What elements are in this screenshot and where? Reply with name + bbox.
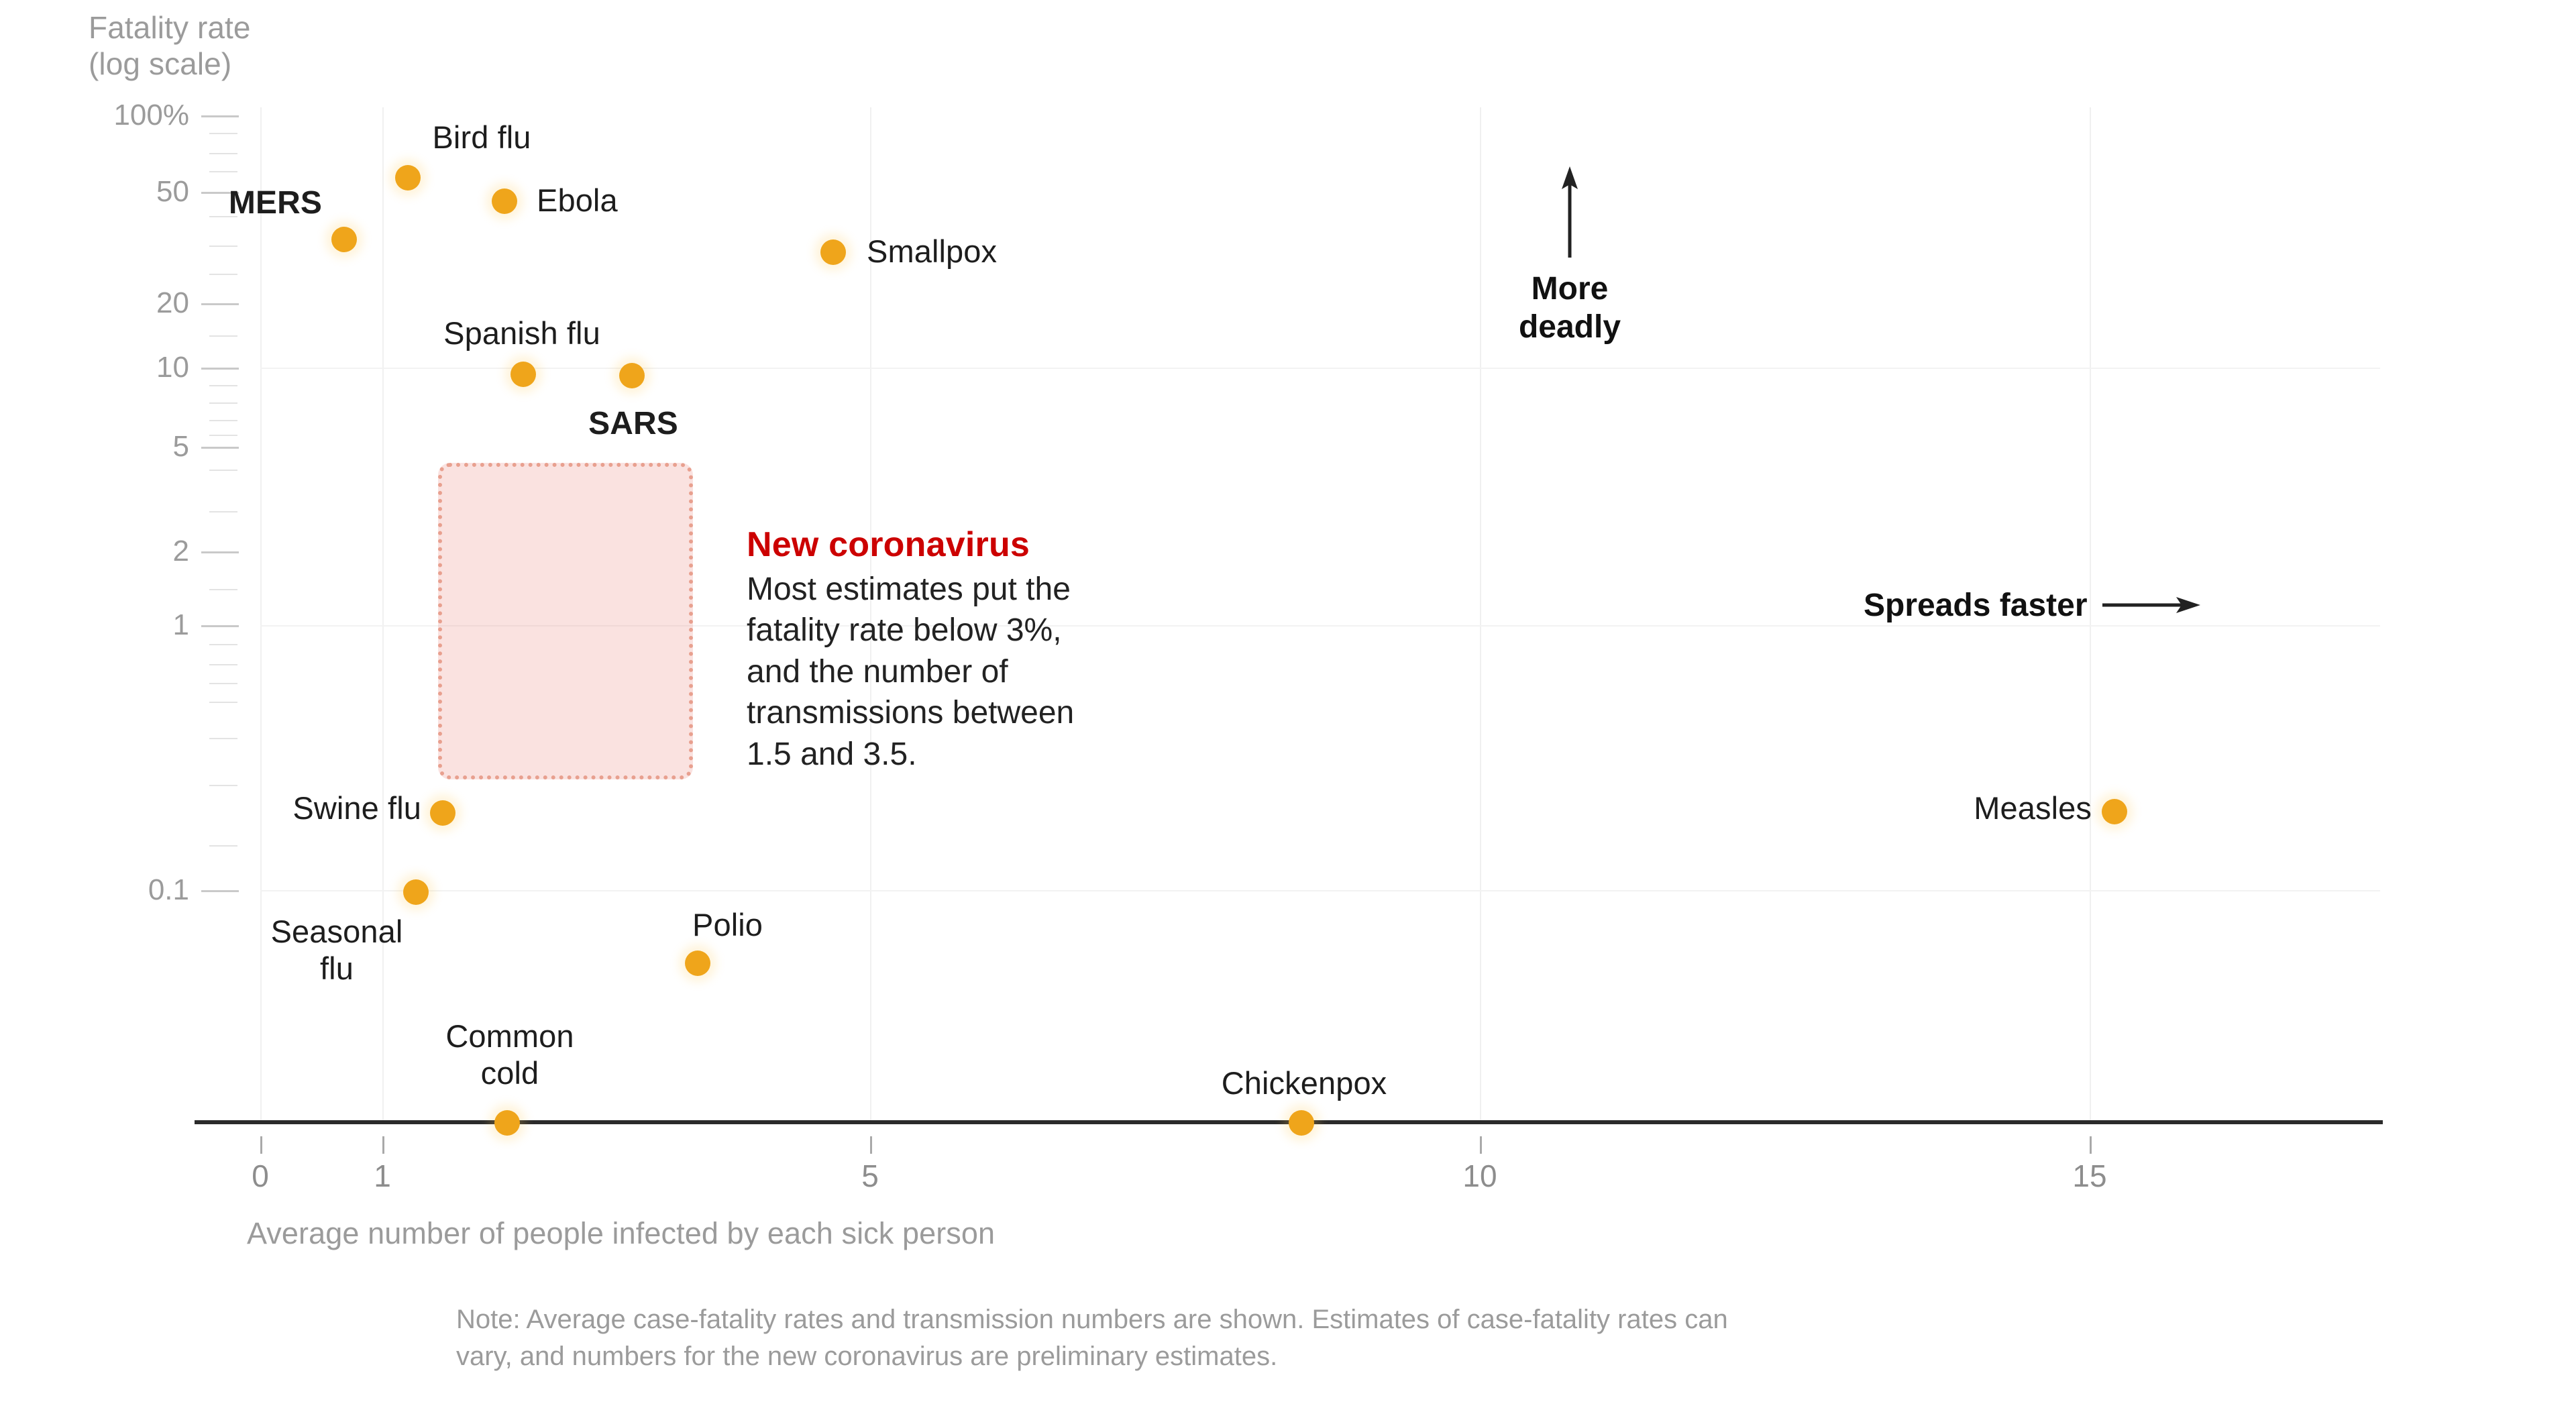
y-tick-10	[201, 368, 239, 370]
y-minor-tick	[209, 171, 237, 172]
coronavirus-highlight-region	[438, 463, 693, 779]
x-tick-10	[1480, 1136, 1482, 1154]
x-tick-0	[260, 1136, 262, 1154]
y-minor-tick	[209, 738, 237, 739]
y-minor-tick	[209, 644, 237, 645]
y-tick-label-0.1: 0.1	[148, 873, 189, 907]
gridline-y-10	[260, 368, 2380, 369]
y-minor-tick	[209, 511, 237, 512]
more-deadly-annotation: More deadly	[1496, 165, 1644, 346]
scatter-chart: Fatality rate (log scale) Average number…	[0, 0, 2576, 1412]
data-point-bird-flu[interactable]	[395, 165, 421, 191]
data-point-mers[interactable]	[331, 227, 357, 252]
y-minor-tick	[209, 664, 237, 665]
spreads-faster-label: Spreads faster	[1864, 587, 2088, 624]
y-minor-tick	[209, 385, 237, 386]
x-tick-label-1: 1	[374, 1158, 391, 1194]
data-point-label-measles: Measles	[1974, 790, 2092, 827]
x-tick-1	[382, 1136, 384, 1154]
y-tick-label-100: 100%	[113, 99, 189, 132]
data-point-spanish-flu[interactable]	[511, 362, 536, 387]
arrow-right-icon	[2101, 585, 2202, 625]
gridline-x-0	[260, 107, 262, 1124]
y-tick-label-2: 2	[173, 535, 189, 568]
y-minor-tick	[209, 683, 237, 684]
y-minor-tick	[209, 153, 237, 154]
data-point-seasonal-flu[interactable]	[403, 879, 429, 905]
gridline-x-10	[1480, 107, 1481, 1124]
data-point-label-polio: Polio	[692, 907, 763, 944]
data-point-sars[interactable]	[619, 363, 645, 388]
data-point-label-common-cold: Common cold	[445, 1018, 574, 1091]
y-minor-tick	[209, 420, 237, 421]
y-tick-20	[201, 303, 239, 305]
y-minor-tick	[209, 274, 237, 275]
y-tick-1	[201, 625, 239, 627]
x-axis-title: Average number of people infected by eac…	[247, 1215, 995, 1251]
data-point-common-cold[interactable]	[494, 1110, 520, 1136]
data-point-ebola[interactable]	[492, 188, 517, 214]
y-minor-tick	[209, 785, 237, 786]
y-tick-5	[201, 447, 239, 449]
x-tick-label-0: 0	[252, 1158, 269, 1194]
data-point-label-spanish-flu: Spanish flu	[443, 315, 600, 352]
y-tick-label-20: 20	[156, 286, 189, 320]
y-minor-tick	[209, 402, 237, 404]
y-minor-tick	[209, 702, 237, 703]
y-tick-100	[201, 115, 239, 117]
y-tick-label-5: 5	[173, 430, 189, 464]
y-tick-2	[201, 551, 239, 553]
data-point-label-smallpox: Smallpox	[867, 233, 997, 270]
y-minor-tick	[209, 589, 237, 590]
data-point-chickenpox[interactable]	[1289, 1110, 1314, 1136]
data-point-label-mers: MERS	[229, 184, 322, 222]
y-tick-label-50: 50	[156, 175, 189, 209]
x-tick-15	[2090, 1136, 2092, 1154]
data-point-measles[interactable]	[2102, 799, 2127, 824]
y-minor-tick	[209, 335, 237, 337]
y-minor-tick	[209, 470, 237, 471]
x-tick-label-15: 15	[2072, 1158, 2106, 1194]
coronavirus-annotation: New coronavirus Most estimates put the f…	[747, 525, 1176, 775]
y-minor-tick	[209, 246, 237, 247]
gridline-y-0.1	[260, 890, 2380, 891]
y-minor-tick	[209, 435, 237, 436]
arrow-up-icon	[1496, 165, 1644, 259]
data-point-label-seasonal-flu: Seasonal flu	[271, 914, 403, 987]
y-tick-0.1	[201, 890, 239, 892]
x-tick-label-10: 10	[1462, 1158, 1497, 1194]
y-axis-title: Fatality rate (log scale)	[89, 9, 251, 83]
x-tick-label-5: 5	[861, 1158, 879, 1194]
more-deadly-label: More deadly	[1496, 270, 1644, 346]
coronavirus-annotation-body: Most estimates put the fatality rate bel…	[747, 569, 1176, 775]
chart-note: Note: Average case-fatality rates and tr…	[456, 1301, 2080, 1375]
data-point-smallpox[interactable]	[820, 239, 846, 265]
data-point-label-bird-flu: Bird flu	[432, 119, 531, 156]
spreads-faster-annotation: Spreads faster	[1864, 585, 2202, 625]
y-tick-label-10: 10	[156, 351, 189, 384]
data-point-swine-flu[interactable]	[430, 800, 455, 826]
data-point-label-chickenpox: Chickenpox	[1222, 1065, 1387, 1102]
data-point-label-ebola: Ebola	[537, 182, 618, 219]
coronavirus-annotation-title: New coronavirus	[747, 525, 1176, 565]
x-tick-5	[870, 1136, 872, 1154]
y-tick-label-1: 1	[173, 608, 189, 642]
y-minor-tick	[209, 133, 237, 134]
data-point-label-sars: SARS	[588, 405, 678, 443]
data-point-polio[interactable]	[685, 951, 710, 976]
data-point-label-swine-flu: Swine flu	[292, 790, 421, 827]
y-minor-tick	[209, 845, 237, 847]
